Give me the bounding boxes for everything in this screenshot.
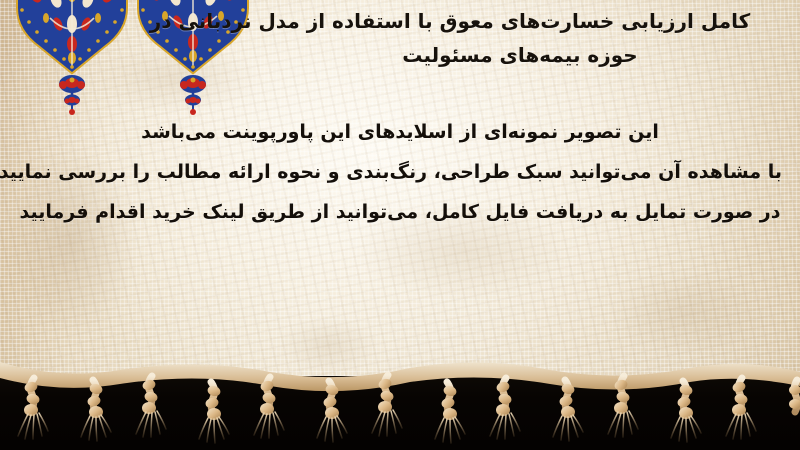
slide-title: کامل ارزیابی خسارت‌های معوق با استفاده ا… — [120, 4, 780, 72]
slide-title-line-2: حوزه بیمه‌های مسئولیت — [120, 38, 800, 72]
slide-body-line-3: در صورت تمایل به دریافت فایل کامل، می‌تو… — [18, 192, 782, 232]
slide-body: این تصویر نمونه‌ای از اسلایدهای این پاور… — [18, 112, 782, 232]
slide-body-line-1: این تصویر نمونه‌ای از اسلایدهای این پاور… — [18, 112, 782, 152]
slide-body-line-2: با مشاهده آن می‌توانید سبک طراحی، رنگ‌بن… — [18, 152, 782, 192]
presentation-slide: کامل ارزیابی خسارت‌های معوق با استفاده ا… — [0, 0, 800, 450]
carpet-medallion-icon — [12, 0, 132, 116]
slide-title-line-1: کامل ارزیابی خسارت‌های معوق با استفاده ا… — [120, 4, 780, 38]
carpet-fringe-tassels — [0, 360, 800, 450]
